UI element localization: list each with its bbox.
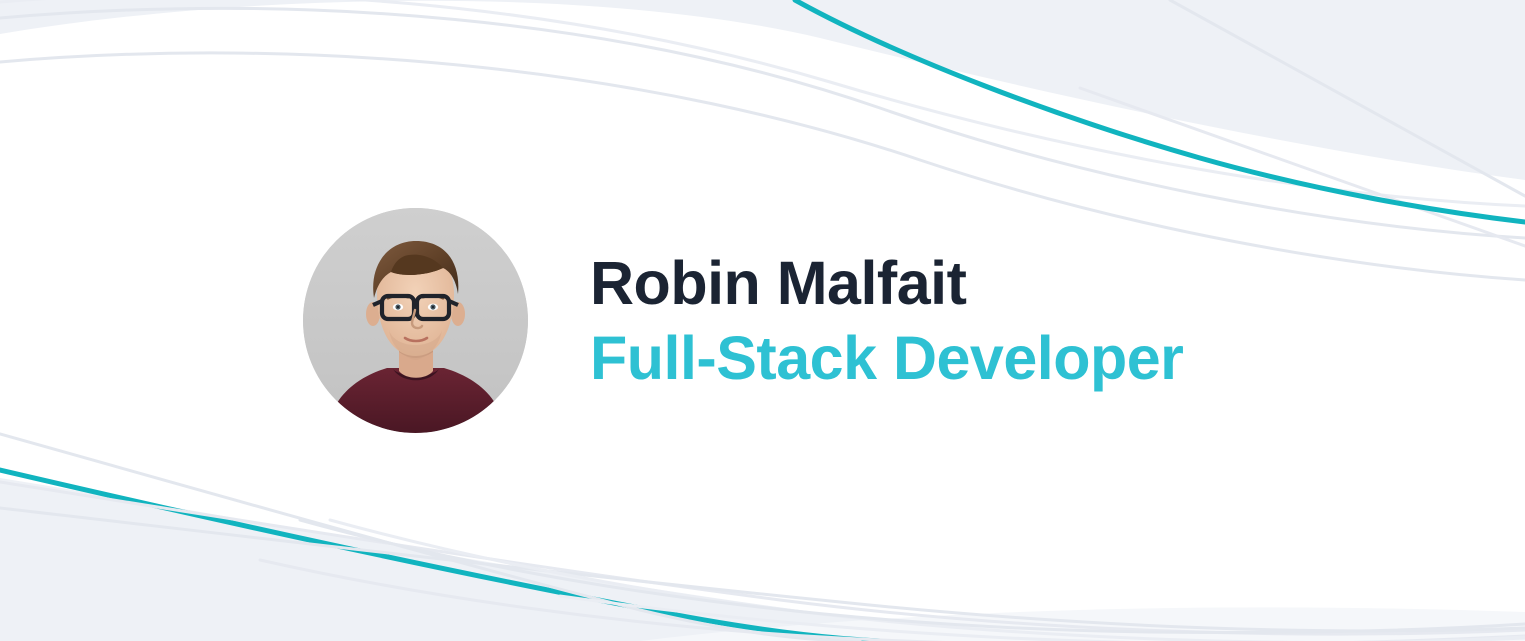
person-role: Full-Stack Developer xyxy=(590,328,1183,389)
profile-banner: Robin Malfait Full-Stack Developer xyxy=(0,0,1525,641)
person-name: Robin Malfait xyxy=(590,253,1183,314)
avatar[interactable] xyxy=(303,208,528,433)
profile-block: Robin Malfait Full-Stack Developer xyxy=(303,208,1183,433)
avatar-photo-icon xyxy=(303,208,528,433)
identity-text-block: Robin Malfait Full-Stack Developer xyxy=(590,253,1183,389)
banner-content: Robin Malfait Full-Stack Developer xyxy=(0,0,1525,641)
